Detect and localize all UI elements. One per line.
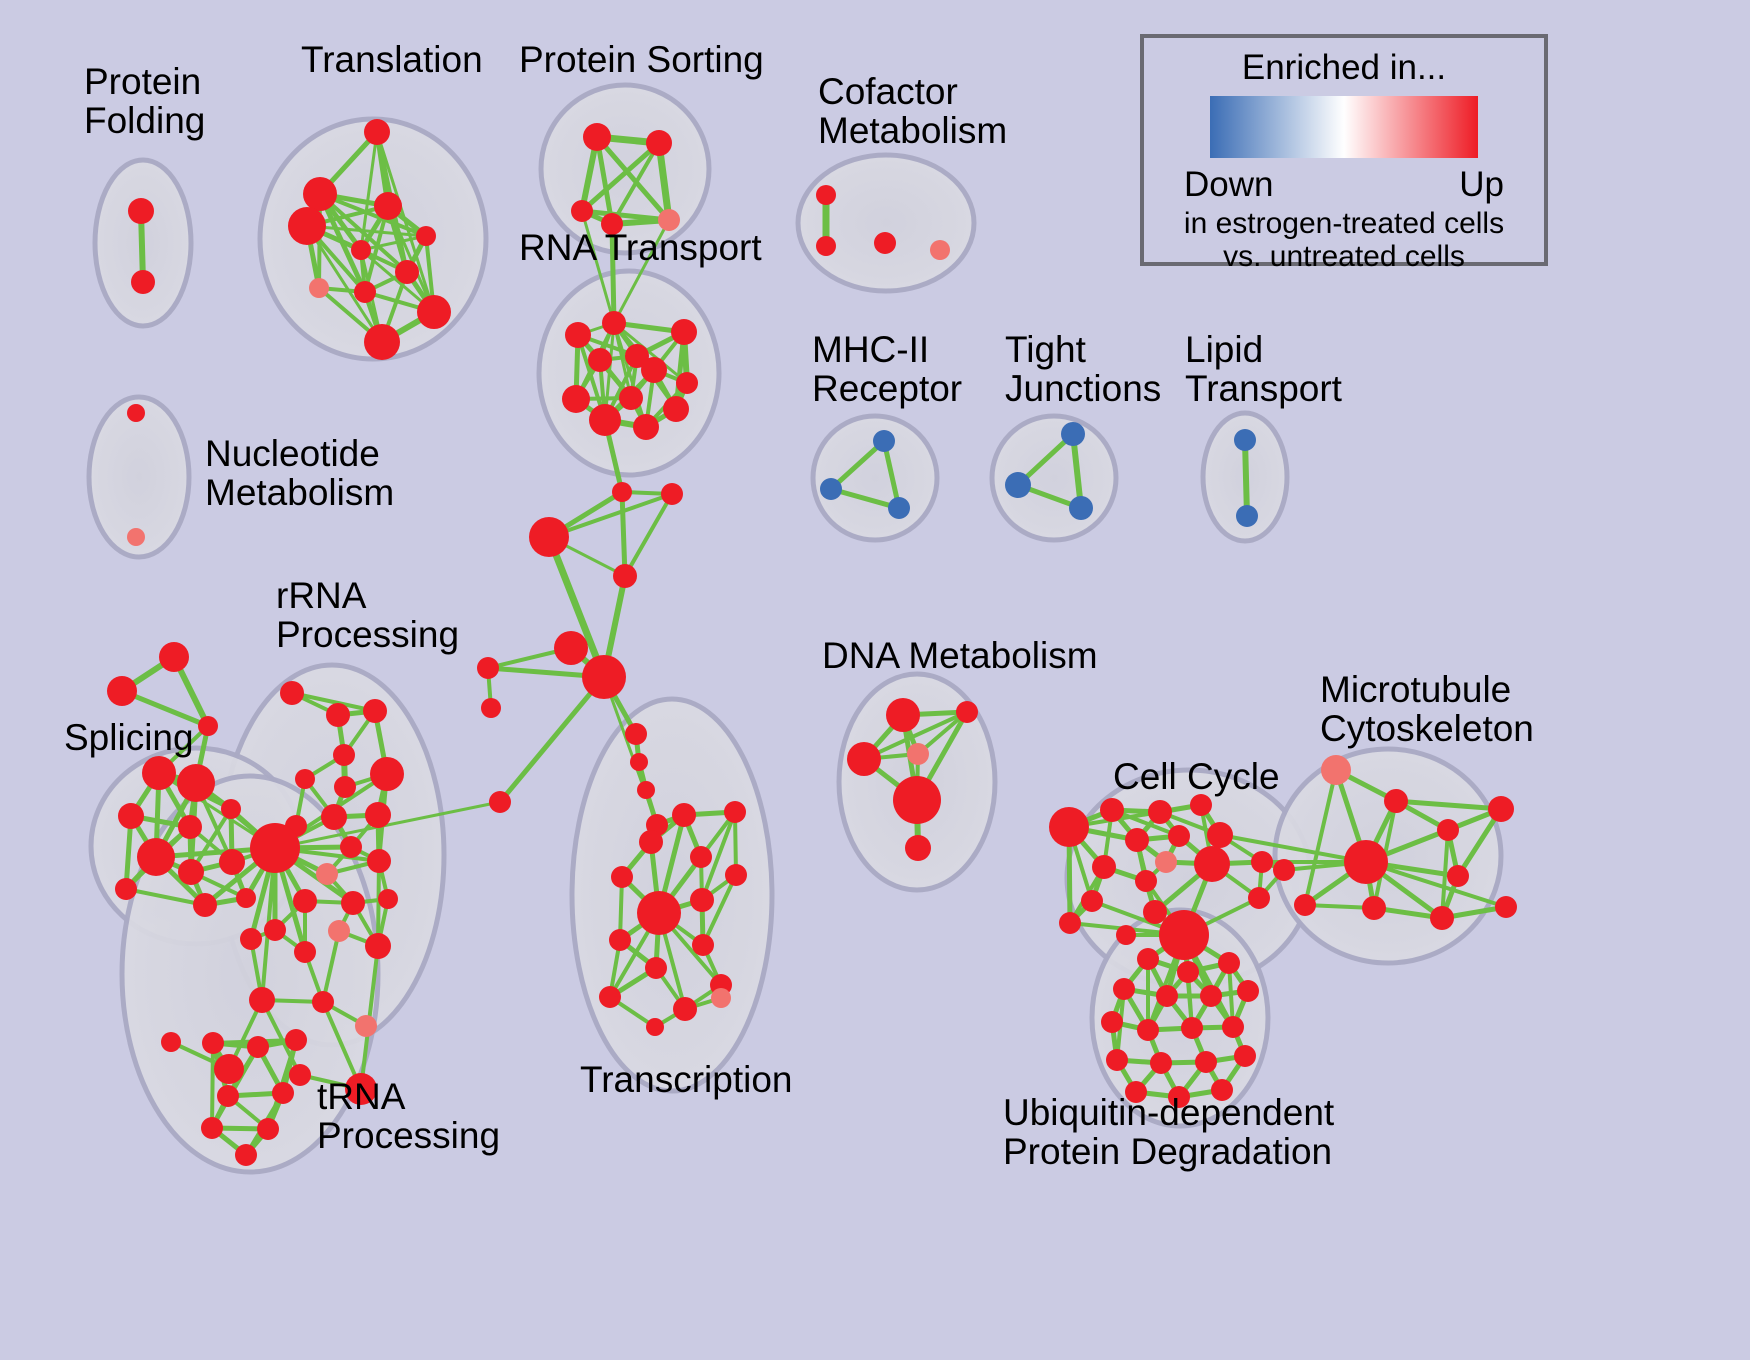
gene-set-node[interactable] xyxy=(1100,798,1124,822)
gene-set-node[interactable] xyxy=(1488,796,1514,822)
gene-set-node[interactable] xyxy=(661,483,683,505)
gene-set-node[interactable] xyxy=(1156,985,1178,1007)
gene-set-node[interactable] xyxy=(1143,900,1167,924)
gene-set-node[interactable] xyxy=(214,1054,244,1084)
gene-set-node[interactable] xyxy=(1190,794,1212,816)
cluster-label-ubiquitin-protein-degradation: Ubiquitin-dependent Protein Degradation xyxy=(1003,1093,1334,1171)
gene-set-node[interactable] xyxy=(326,703,350,727)
gene-set-node[interactable] xyxy=(663,396,689,422)
cluster-hull-mhc-ii-receptor xyxy=(813,416,937,540)
gene-set-node[interactable] xyxy=(888,497,910,519)
gene-set-node[interactable] xyxy=(886,698,920,732)
gene-set-node[interactable] xyxy=(1148,800,1172,824)
gene-set-node[interactable] xyxy=(1059,912,1081,934)
gene-set-node[interactable] xyxy=(1200,985,1222,1007)
cluster-label-cofactor-metabolism: Cofactor Metabolism xyxy=(818,72,1007,150)
gene-set-node[interactable] xyxy=(127,404,145,422)
gene-set-node[interactable] xyxy=(131,270,155,294)
gene-set-node[interactable] xyxy=(1101,1011,1123,1033)
gene-set-node[interactable] xyxy=(1344,840,1388,884)
gene-set-node[interactable] xyxy=(354,281,376,303)
gene-set-node[interactable] xyxy=(646,130,672,156)
gene-set-node[interactable] xyxy=(1218,952,1240,974)
gene-set-node[interactable] xyxy=(309,278,329,298)
gene-set-node[interactable] xyxy=(619,386,643,410)
gene-set-node[interactable] xyxy=(612,482,632,502)
gene-set-node[interactable] xyxy=(907,743,929,765)
gene-set-node[interactable] xyxy=(1137,1019,1159,1041)
cluster-label-translation: Translation xyxy=(301,40,483,79)
gene-set-node[interactable] xyxy=(1248,887,1270,909)
gene-set-node[interactable] xyxy=(820,478,842,500)
gene-set-node[interactable] xyxy=(107,676,137,706)
gene-set-node[interactable] xyxy=(692,934,714,956)
gene-set-node[interactable] xyxy=(240,928,262,950)
gene-set-node[interactable] xyxy=(295,769,315,789)
cluster-label-protein-folding: Protein Folding xyxy=(84,62,205,140)
gene-set-node[interactable] xyxy=(599,986,621,1008)
legend-caption-line2: vs. untreated cells xyxy=(1184,240,1504,273)
gene-set-node[interactable] xyxy=(363,699,387,723)
color-scale-gradient xyxy=(1210,96,1478,158)
gene-set-node[interactable] xyxy=(280,681,304,705)
gene-set-node[interactable] xyxy=(198,716,218,736)
gene-set-node[interactable] xyxy=(355,1015,377,1037)
gene-set-node[interactable] xyxy=(529,517,569,557)
cluster-label-mhc-ii-receptor: MHC-II Receptor xyxy=(812,330,962,408)
gene-set-node[interactable] xyxy=(1234,429,1256,451)
gene-set-node[interactable] xyxy=(873,430,895,452)
gene-set-node[interactable] xyxy=(364,119,390,145)
gene-set-node[interactable] xyxy=(378,889,398,909)
cluster-label-trna-processing: tRNA Processing xyxy=(317,1077,500,1155)
cluster-label-lipid-transport: Lipid Transport xyxy=(1185,330,1342,408)
gene-set-node[interactable] xyxy=(217,1085,239,1107)
gene-set-node[interactable] xyxy=(201,1117,223,1139)
enrichment-network-figure: Protein FoldingTranslationProtein Sortin… xyxy=(0,0,1750,1360)
gene-set-node[interactable] xyxy=(294,941,316,963)
cluster-label-dna-metabolism: DNA Metabolism xyxy=(822,636,1098,675)
gene-set-node[interactable] xyxy=(285,1029,307,1051)
gene-set-node[interactable] xyxy=(321,804,347,830)
gene-set-node[interactable] xyxy=(341,891,365,915)
gene-set-node[interactable] xyxy=(288,207,326,245)
gene-set-node[interactable] xyxy=(671,319,697,345)
gene-set-node[interactable] xyxy=(328,920,350,942)
cluster-label-transcription: Transcription xyxy=(580,1060,792,1099)
gene-set-node[interactable] xyxy=(1113,978,1135,1000)
gene-set-node[interactable] xyxy=(235,1144,257,1166)
gene-set-node[interactable] xyxy=(582,655,626,699)
gene-set-node[interactable] xyxy=(633,414,659,440)
gene-set-node[interactable] xyxy=(477,657,499,679)
gene-set-node[interactable] xyxy=(1125,828,1149,852)
cluster-label-nucleotide-metabolism: Nucleotide Metabolism xyxy=(205,434,394,512)
gene-set-node[interactable] xyxy=(177,764,215,802)
gene-set-node[interactable] xyxy=(724,801,746,823)
gene-set-node[interactable] xyxy=(247,1036,269,1058)
gene-set-node[interactable] xyxy=(646,1018,664,1036)
gene-set-node[interactable] xyxy=(1495,896,1517,918)
gene-set-node[interactable] xyxy=(672,803,696,827)
gene-set-node[interactable] xyxy=(1155,851,1177,873)
gene-set-node[interactable] xyxy=(641,357,667,383)
gene-set-node[interactable] xyxy=(370,757,404,791)
gene-set-node[interactable] xyxy=(676,372,698,394)
gene-set-node[interactable] xyxy=(725,864,747,886)
gene-set-node[interactable] xyxy=(193,893,217,917)
gene-set-node[interactable] xyxy=(1234,1045,1256,1067)
gene-set-node[interactable] xyxy=(1092,855,1116,879)
gene-set-node[interactable] xyxy=(1081,890,1103,912)
gene-set-node[interactable] xyxy=(334,776,356,798)
gene-set-node[interactable] xyxy=(1181,1017,1203,1039)
gene-set-node[interactable] xyxy=(816,236,836,256)
gene-set-node[interactable] xyxy=(565,322,591,348)
gene-set-node[interactable] xyxy=(118,803,144,829)
gene-set-node[interactable] xyxy=(264,919,286,941)
gene-set-node[interactable] xyxy=(1430,906,1454,930)
gene-set-node[interactable] xyxy=(588,348,612,372)
gene-set-node[interactable] xyxy=(236,888,256,908)
gene-set-node[interactable] xyxy=(481,698,501,718)
gene-set-node[interactable] xyxy=(316,863,338,885)
gene-set-node[interactable] xyxy=(1116,925,1136,945)
gene-set-node[interactable] xyxy=(905,835,931,861)
gene-set-node[interactable] xyxy=(1362,896,1386,920)
gene-set-node[interactable] xyxy=(1195,1051,1217,1073)
gene-set-node[interactable] xyxy=(1177,961,1199,983)
gene-set-node[interactable] xyxy=(127,528,145,546)
gene-set-node[interactable] xyxy=(250,823,300,873)
cluster-label-cell-cycle: Cell Cycle xyxy=(1113,757,1280,796)
gene-set-node[interactable] xyxy=(416,226,436,246)
gene-set-node[interactable] xyxy=(816,185,836,205)
gene-set-node[interactable] xyxy=(1005,472,1031,498)
gene-set-node[interactable] xyxy=(613,564,637,588)
gene-set-node[interactable] xyxy=(365,802,391,828)
gene-set-node[interactable] xyxy=(219,849,245,875)
legend-low-label: Down xyxy=(1184,165,1273,205)
gene-set-node[interactable] xyxy=(1061,422,1085,446)
network-edge xyxy=(622,492,625,576)
gene-set-node[interactable] xyxy=(645,957,667,979)
gene-set-node[interactable] xyxy=(602,311,626,335)
legend-panel: Enriched in... Down Up in estrogen-treat… xyxy=(1140,34,1548,266)
gene-set-node[interactable] xyxy=(1273,859,1295,881)
gene-set-node[interactable] xyxy=(249,987,275,1013)
gene-set-node[interactable] xyxy=(333,744,355,766)
gene-set-node[interactable] xyxy=(417,295,451,329)
gene-set-node[interactable] xyxy=(847,742,881,776)
gene-set-node[interactable] xyxy=(562,385,590,413)
gene-set-node[interactable] xyxy=(221,799,241,819)
cluster-label-microtubule-cytoskeleton: Microtubule Cytoskeleton xyxy=(1320,670,1534,748)
gene-set-node[interactable] xyxy=(609,929,631,951)
gene-set-node[interactable] xyxy=(257,1118,279,1140)
gene-set-node[interactable] xyxy=(374,192,402,220)
gene-set-node[interactable] xyxy=(673,997,697,1021)
cluster-label-rna-transport: RNA Transport xyxy=(519,228,762,267)
gene-set-node[interactable] xyxy=(583,123,611,151)
gene-set-node[interactable] xyxy=(340,836,362,858)
gene-set-node[interactable] xyxy=(1447,865,1469,887)
gene-set-node[interactable] xyxy=(930,240,950,260)
gene-set-node[interactable] xyxy=(178,859,204,885)
gene-set-node[interactable] xyxy=(351,240,371,260)
gene-set-node[interactable] xyxy=(1207,822,1233,848)
legend-caption-line1: in estrogen-treated cells xyxy=(1184,207,1504,240)
gene-set-node[interactable] xyxy=(395,260,419,284)
gene-set-node[interactable] xyxy=(1069,496,1093,520)
gene-set-node[interactable] xyxy=(1294,894,1316,916)
gene-set-node[interactable] xyxy=(1251,851,1273,873)
gene-set-node[interactable] xyxy=(128,198,154,224)
gene-set-node[interactable] xyxy=(589,404,621,436)
cluster-label-rrna-processing: rRNA Processing xyxy=(276,576,459,654)
network-edge xyxy=(212,1043,213,1128)
gene-set-node[interactable] xyxy=(1049,807,1089,847)
gene-set-node[interactable] xyxy=(159,642,189,672)
gene-set-node[interactable] xyxy=(893,776,941,824)
gene-set-node[interactable] xyxy=(365,933,391,959)
gene-set-node[interactable] xyxy=(1159,910,1209,960)
gene-set-node[interactable] xyxy=(1321,755,1351,785)
gene-set-node[interactable] xyxy=(312,991,334,1013)
legend-caption: in estrogen-treated cells vs. untreated … xyxy=(1184,207,1504,273)
gene-set-node[interactable] xyxy=(1237,980,1259,1002)
gene-set-node[interactable] xyxy=(690,888,714,912)
cluster-label-tight-junctions: Tight Junctions xyxy=(1005,330,1161,408)
gene-set-node[interactable] xyxy=(1384,789,1408,813)
gene-set-node[interactable] xyxy=(202,1032,224,1054)
legend-endpoints: Down Up xyxy=(1184,165,1504,205)
gene-set-node[interactable] xyxy=(956,701,978,723)
gene-set-node[interactable] xyxy=(367,849,391,873)
gene-set-node[interactable] xyxy=(142,756,176,790)
gene-set-node[interactable] xyxy=(115,878,137,900)
gene-set-node[interactable] xyxy=(639,830,663,854)
network-edge xyxy=(1245,440,1247,516)
gene-set-node[interactable] xyxy=(1150,1052,1172,1074)
gene-set-node[interactable] xyxy=(1437,819,1459,841)
gene-set-node[interactable] xyxy=(571,200,593,222)
legend-gradient-wrap xyxy=(1210,96,1478,163)
gene-set-node[interactable] xyxy=(690,846,712,868)
gene-set-node[interactable] xyxy=(1106,1049,1128,1071)
gene-set-node[interactable] xyxy=(711,988,731,1008)
gene-set-node[interactable] xyxy=(293,889,317,913)
cluster-label-protein-sorting: Protein Sorting xyxy=(519,40,764,79)
gene-set-node[interactable] xyxy=(1236,505,1258,527)
gene-set-node[interactable] xyxy=(178,815,202,839)
gene-set-node[interactable] xyxy=(289,1064,311,1086)
legend-title: Enriched in... xyxy=(1242,48,1446,88)
legend-high-label: Up xyxy=(1459,165,1504,205)
gene-set-node[interactable] xyxy=(161,1032,181,1052)
gene-set-node[interactable] xyxy=(1135,870,1157,892)
cluster-label-splicing: Splicing xyxy=(64,718,194,757)
gene-set-node[interactable] xyxy=(611,866,633,888)
gene-set-node[interactable] xyxy=(1194,846,1230,882)
gene-set-node[interactable] xyxy=(1222,1016,1244,1038)
gene-set-node[interactable] xyxy=(1168,825,1190,847)
gene-set-node[interactable] xyxy=(1137,948,1159,970)
gene-set-node[interactable] xyxy=(272,1082,294,1104)
gene-set-node[interactable] xyxy=(637,891,681,935)
gene-set-node[interactable] xyxy=(637,781,655,799)
gene-set-node[interactable] xyxy=(554,631,588,665)
gene-set-node[interactable] xyxy=(874,232,896,254)
gene-set-node[interactable] xyxy=(489,791,511,813)
gene-set-node[interactable] xyxy=(303,177,337,211)
gene-set-node[interactable] xyxy=(630,753,648,771)
gene-set-node[interactable] xyxy=(625,723,647,745)
gene-set-node[interactable] xyxy=(364,324,400,360)
gene-set-node[interactable] xyxy=(137,838,175,876)
